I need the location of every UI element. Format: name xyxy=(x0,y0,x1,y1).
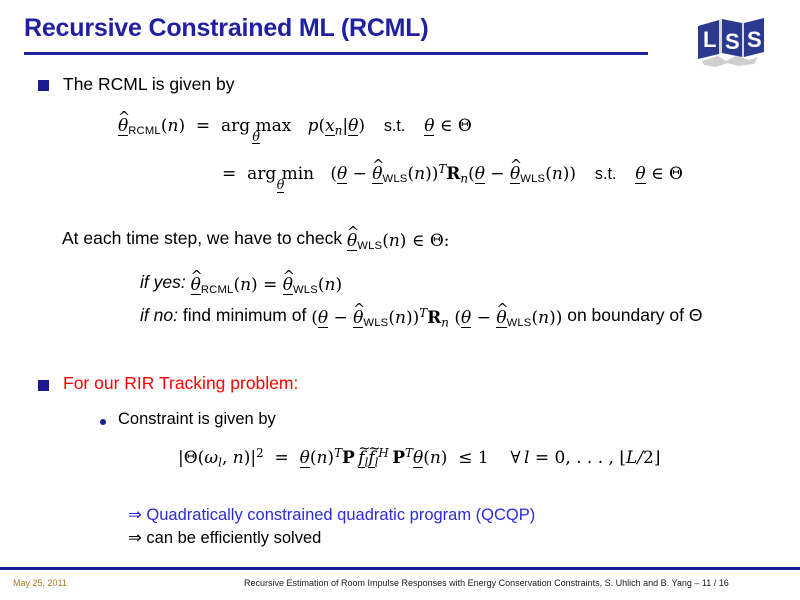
conclusion-arrow-1: ⇒ xyxy=(128,506,142,524)
if-no-tail: on boundary of Θ xyxy=(567,305,702,325)
bullet-marker-2 xyxy=(38,380,49,391)
if-no-text: find minimum of xyxy=(183,305,307,325)
check-condition-text: At each time step, we have to check xyxy=(62,228,342,248)
equation-rcml-line2: = arg minθ (θ − ^θWLS(n))TRn(θ − ^θWLS(n… xyxy=(222,164,683,186)
svg-text:S: S xyxy=(725,29,740,54)
if-no-math: (θ − ^θWLS(n))TRn (θ − ^θWLS(n)) xyxy=(311,308,562,328)
check-condition-math: ^θWLS(n) ∈ Θ: xyxy=(347,231,449,251)
conclusion-line-2: ⇒ can be efficiently solved xyxy=(128,528,321,548)
svg-text:L: L xyxy=(703,27,716,52)
conclusion-text-1: Quadratically constrained quadratic prog… xyxy=(146,506,535,524)
if-no-line: if no: find minimum of (θ − ^θWLS(n))TRn… xyxy=(140,305,702,327)
lss-logo-icon: L S S xyxy=(692,14,770,76)
bullet-text-2: For our RIR Tracking problem: xyxy=(63,373,298,394)
footer-divider xyxy=(0,567,800,570)
footer-citation: Recursive Estimation of Room Impulse Res… xyxy=(244,578,729,588)
equation-constraint: |Θ(ωl, n)|2 = θ(n)TP ~fl~flH PTθ(n) ≤ 1 … xyxy=(178,448,661,469)
lss-logo: L S S xyxy=(692,14,770,76)
footer-date: May 25, 2011 xyxy=(13,578,67,588)
equation-rcml-line1: ^θRCML(n) = arg maxθ p(xn|θ) s.t. θ ∈ Θ xyxy=(118,118,472,137)
conclusion-arrow-2: ⇒ xyxy=(128,529,142,547)
svg-text:S: S xyxy=(747,27,762,52)
page-title: Recursive Constrained ML (RCML) xyxy=(24,14,429,43)
conclusion-text-2: can be efficiently solved xyxy=(146,529,321,547)
bullet-text-1: The RCML is given by xyxy=(63,74,235,95)
subbullet-text-1: Constraint is given by xyxy=(118,410,276,429)
if-no-label: if no: xyxy=(140,305,178,325)
bullet-marker-1 xyxy=(38,80,49,91)
title-divider xyxy=(24,52,648,55)
conclusion-line-1: ⇒ Quadratically constrained quadratic pr… xyxy=(128,505,535,525)
check-condition-line: At each time step, we have to check ^θWL… xyxy=(62,228,450,250)
if-yes-label: if yes: xyxy=(140,272,186,292)
if-yes-line: if yes: ^θRCML(n) = ^θWLS(n) xyxy=(140,272,342,294)
if-yes-math: ^θRCML(n) = ^θWLS(n) xyxy=(191,275,343,295)
subbullet-marker-1 xyxy=(100,419,106,425)
